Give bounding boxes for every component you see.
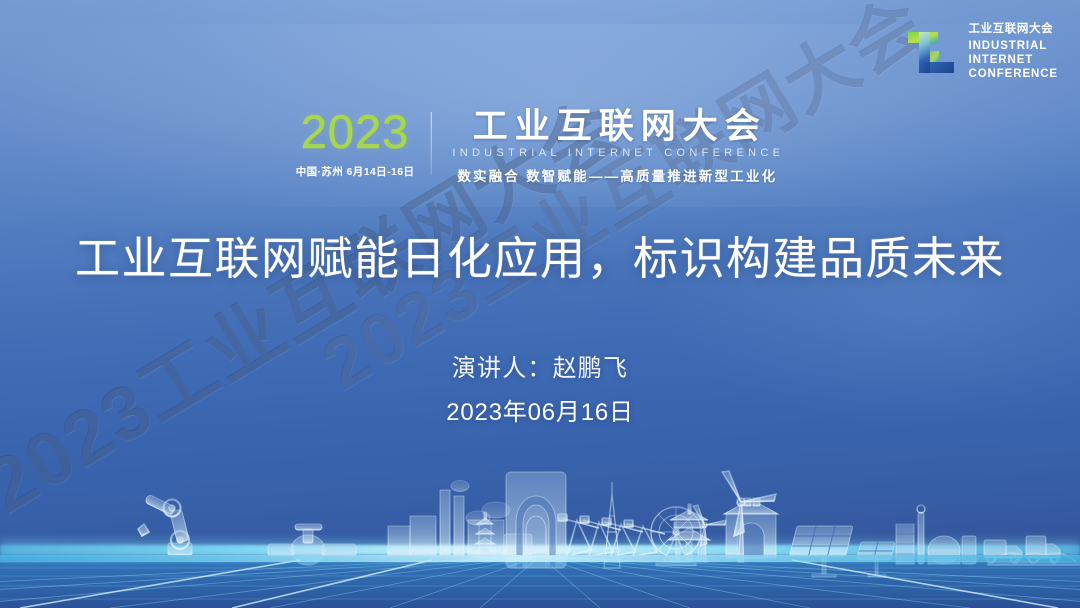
- skyline-shapes: [138, 471, 1080, 577]
- conference-slogan: 数实融合 数智赋能——高质量推进新型工业化: [448, 165, 784, 185]
- corner-conference-logo: 工业互联网大会 INDUSTRIAL INTERNET CONFERENCE: [905, 24, 1058, 81]
- event-name-block: 工业互联网大会 INDUSTRIAL INTERNET CONFERENCE 数…: [431, 108, 784, 185]
- corner-logo-en-line3: CONFERENCE: [968, 67, 1058, 81]
- corner-logo-en-line2: INTERNET: [968, 53, 1058, 67]
- conference-name-cn: 工业互联网大会: [448, 108, 784, 145]
- horizon-glow-line: [0, 545, 1080, 555]
- presentation-date: 2023年06月16日: [0, 392, 1080, 427]
- conference-name-en: INDUSTRIAL INTERNET CONFERENCE: [448, 147, 784, 159]
- event-lockup: 2023 中国·苏州 6月14日-16日 工业互联网大会 INDUSTRIAL …: [296, 108, 785, 185]
- presentation-slide: 2023工业互联网大会 2023工业互联网大会: [0, 0, 1080, 608]
- horizon-soft-glow: [0, 536, 1080, 564]
- event-place-and-dates: 中国·苏州 6月14日-16日: [296, 164, 415, 179]
- city-industry-skyline: [0, 448, 1080, 608]
- conference-t-mark-icon: [905, 26, 957, 78]
- page-title: 工业互联网赋能日化应用，标识构建品质未来: [0, 222, 1080, 287]
- corner-logo-cn-name: 工业互联网大会: [968, 24, 1058, 36]
- corner-logo-en-line1: INDUSTRIAL: [968, 39, 1058, 53]
- speaker-name: 演讲人：赵鹏飞: [0, 348, 1080, 383]
- corner-logo-text: 工业互联网大会 INDUSTRIAL INTERNET CONFERENCE: [968, 24, 1058, 81]
- event-year: 2023: [296, 108, 415, 155]
- event-year-block: 2023 中国·苏州 6月14日-16日: [296, 108, 431, 179]
- perspective-grid-floor: [0, 555, 1080, 608]
